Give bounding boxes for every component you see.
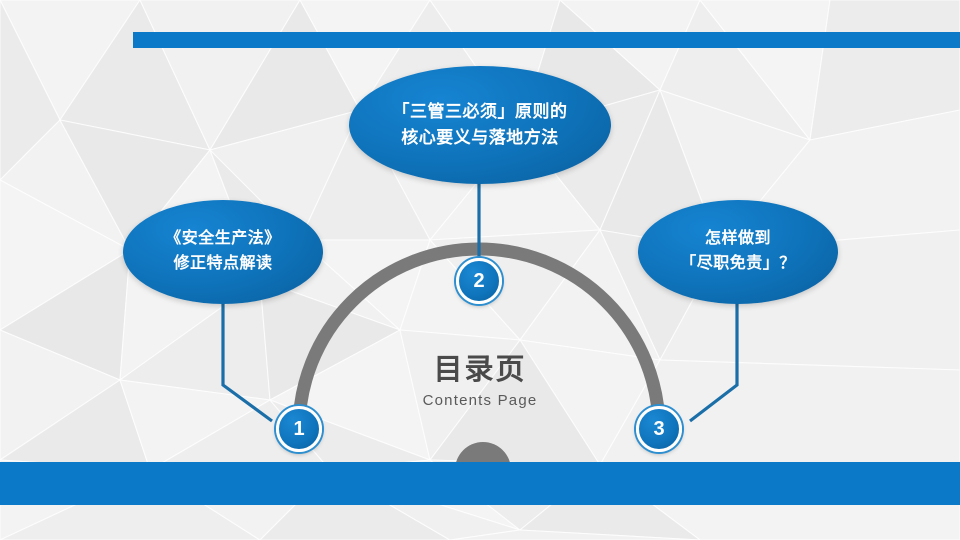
node-marker-2-label: 2 bbox=[473, 270, 484, 293]
page-title-en: Contents Page bbox=[380, 392, 580, 409]
topic-bubble-3-line2: 「尽职免责」？ bbox=[680, 252, 796, 277]
topic-bubble-2-line1: 「三管三必须」原则的 bbox=[393, 99, 568, 125]
topic-bubble-3-line1: 怎样做到 bbox=[705, 227, 771, 252]
node-marker-1-label: 1 bbox=[293, 418, 304, 441]
topic-bubble-1-line2: 修正特点解读 bbox=[173, 252, 272, 277]
bottom-accent-bar bbox=[0, 462, 960, 505]
topic-bubble-1[interactable]: 《安全生产法》 修正特点解读 bbox=[123, 200, 323, 304]
node-marker-2[interactable]: 2 bbox=[456, 258, 502, 304]
topic-bubble-2[interactable]: 「三管三必须」原则的 核心要义与落地方法 bbox=[349, 66, 611, 184]
center-title-block: 目录页 Contents Page bbox=[380, 352, 580, 409]
topic-bubble-3[interactable]: 怎样做到 「尽职免责」？ bbox=[638, 200, 838, 304]
slide-canvas: 「三管三必须」原则的 核心要义与落地方法 《安全生产法》 修正特点解读 怎样做到… bbox=[0, 0, 960, 540]
top-accent-bar bbox=[133, 32, 960, 48]
node-marker-1[interactable]: 1 bbox=[276, 406, 322, 452]
topic-bubble-1-line1: 《安全生产法》 bbox=[165, 227, 281, 252]
node-marker-3[interactable]: 3 bbox=[636, 406, 682, 452]
node-marker-3-label: 3 bbox=[653, 418, 664, 441]
page-title-cn: 目录页 bbox=[380, 352, 580, 388]
connector-left bbox=[223, 300, 272, 421]
connector-right bbox=[690, 300, 737, 421]
topic-bubble-2-line2: 核心要义与落地方法 bbox=[401, 125, 559, 151]
